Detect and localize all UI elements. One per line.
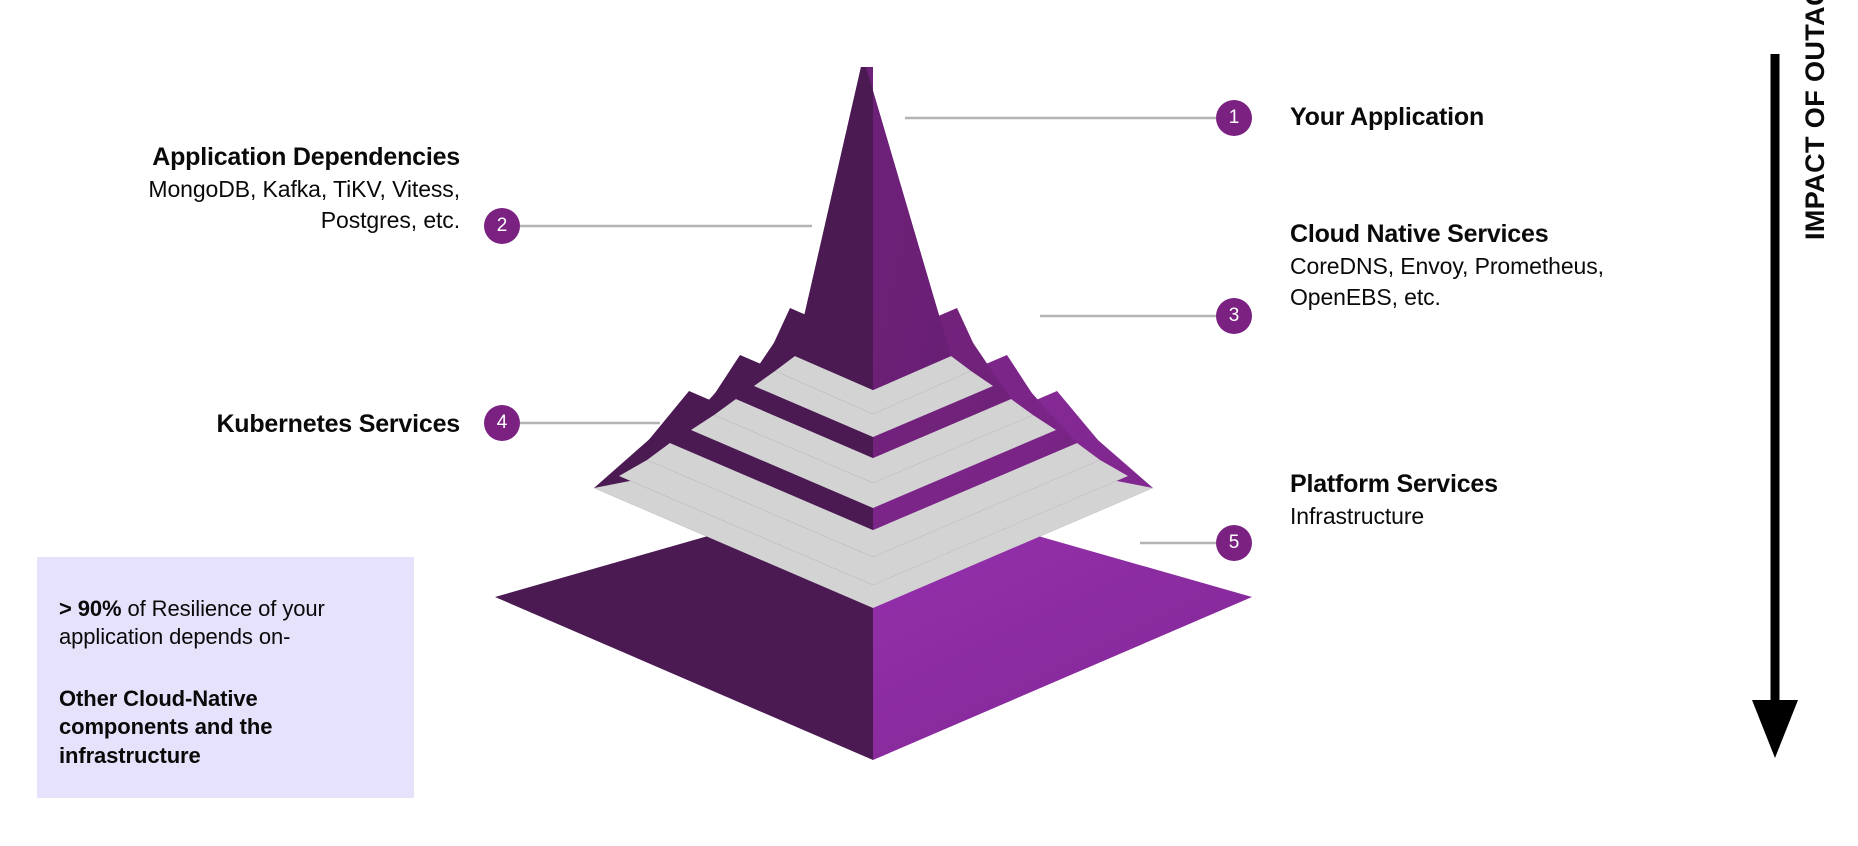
impact-of-outage-arrow <box>1752 54 1798 758</box>
tier-label-1: Your Application <box>1290 101 1484 134</box>
tier-label-4: Kubernetes Services <box>30 408 460 441</box>
tier-3-title: Cloud Native Services <box>1290 218 1604 251</box>
impact-of-outage-label: IMPACT OF OUTAGE <box>1800 0 1831 240</box>
tier-label-5: Platform Services Infrastructure <box>1290 468 1498 532</box>
tier-5-title: Platform Services <box>1290 468 1498 501</box>
tier-badge-5[interactable]: 5 <box>1216 525 1252 561</box>
tier-3-subtitle-line-1: CoreDNS, Envoy, Prometheus, <box>1290 251 1604 282</box>
tier-badge-2[interactable]: 2 <box>484 208 520 244</box>
note-lead: > 90% of Resilience of your application … <box>59 595 382 651</box>
note-emphasis: Other Cloud-Native components and the in… <box>59 685 382 769</box>
tier-2-subtitle-line-1: MongoDB, Kafka, TiKV, Vitess, <box>30 174 460 205</box>
tier-badge-4[interactable]: 4 <box>484 405 520 441</box>
diagram-canvas: 1 2 3 4 5 Your Application Application D… <box>0 0 1858 846</box>
tier-1-title: Your Application <box>1290 101 1484 134</box>
tier-label-3: Cloud Native Services CoreDNS, Envoy, Pr… <box>1290 218 1604 313</box>
pyramid-tier-1-body <box>795 67 951 390</box>
tier-2-title: Application Dependencies <box>30 141 460 174</box>
resilience-note-box: > 90% of Resilience of your application … <box>37 557 414 798</box>
note-lead-strong: > 90% <box>59 596 122 621</box>
arrow-head <box>1752 700 1798 758</box>
tier-4-title: Kubernetes Services <box>30 408 460 441</box>
tier-3-subtitle-line-2: OpenEBS, etc. <box>1290 282 1604 313</box>
tier-5-subtitle: Infrastructure <box>1290 501 1498 532</box>
tier-badge-3[interactable]: 3 <box>1216 298 1252 334</box>
tier-badge-1[interactable]: 1 <box>1216 100 1252 136</box>
tier-2-subtitle-line-2: Postgres, etc. <box>30 205 460 236</box>
tier-label-2: Application Dependencies MongoDB, Kafka,… <box>30 141 460 236</box>
